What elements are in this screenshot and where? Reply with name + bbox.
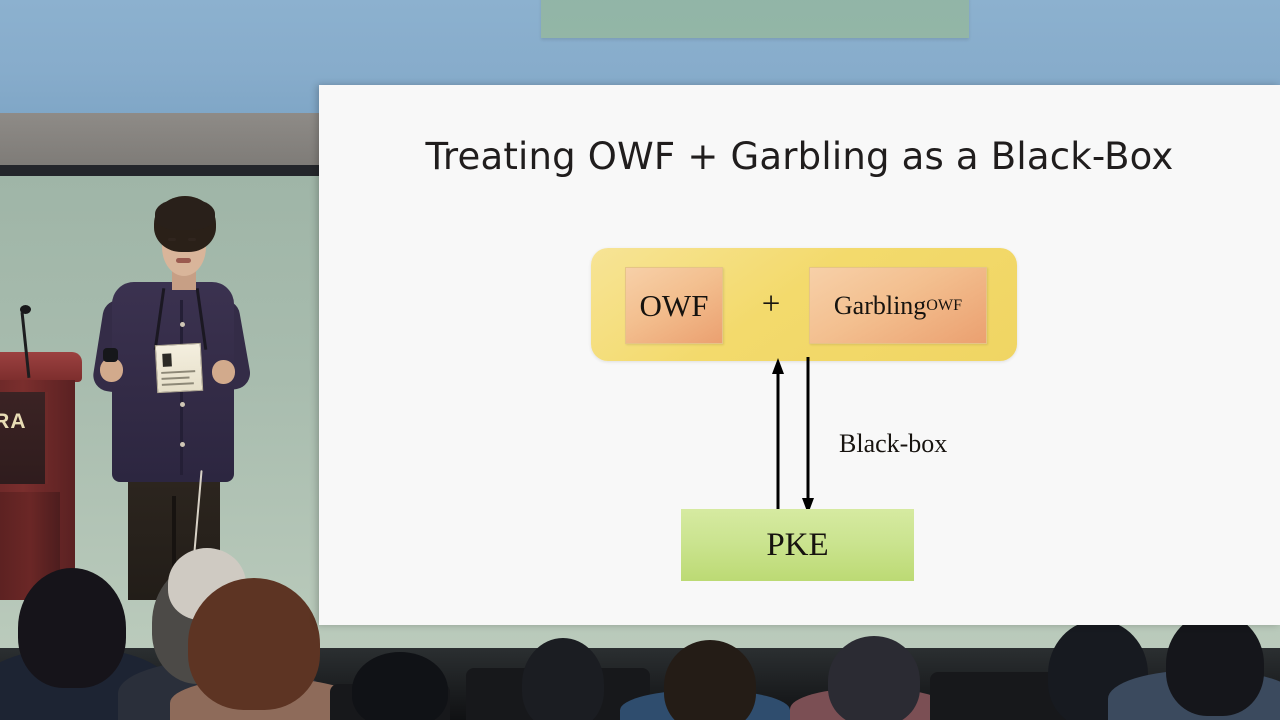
speaker-shirt-button bbox=[180, 402, 185, 407]
garbling-box: GarblingOWF bbox=[809, 267, 987, 344]
badge-text-line bbox=[161, 370, 195, 374]
speaker-shirt-button bbox=[180, 442, 185, 447]
speaker-right-hand bbox=[212, 360, 235, 384]
speaker-mouth bbox=[176, 258, 191, 263]
pke-box: PKE bbox=[681, 509, 914, 581]
speaker-eye-right bbox=[188, 238, 196, 241]
podium-front-panel bbox=[0, 392, 48, 484]
badge-text-line bbox=[162, 382, 194, 386]
speaker-hair-fringe bbox=[155, 198, 215, 230]
secondary-projection-screen bbox=[541, 0, 969, 38]
audience-head bbox=[18, 568, 126, 688]
black-box-arrows bbox=[759, 357, 819, 515]
black-box-label: Black-box bbox=[839, 429, 947, 459]
audience-head bbox=[828, 636, 920, 720]
presentation-clicker-icon bbox=[103, 348, 118, 362]
audience-head bbox=[1166, 612, 1264, 716]
owf-label: OWF bbox=[640, 288, 709, 324]
garbling-label: Garbling bbox=[834, 291, 926, 321]
podium-top bbox=[0, 352, 82, 382]
speaker-shirt-button bbox=[180, 322, 185, 327]
microphone-head-icon bbox=[20, 305, 31, 314]
primitive-group-container: OWF + GarblingOWF bbox=[591, 248, 1017, 361]
badge-text-line bbox=[161, 376, 189, 379]
pke-label: PKE bbox=[766, 527, 828, 564]
audience-head bbox=[352, 652, 448, 720]
audience-head-curly bbox=[188, 578, 320, 710]
podium-sign-text: ARA bbox=[0, 410, 27, 434]
screenshot-root: ARA bbox=[0, 0, 1280, 720]
speaker-eye-left bbox=[168, 238, 176, 241]
conference-name-badge bbox=[155, 343, 203, 393]
owf-box: OWF bbox=[625, 267, 723, 344]
audience-head bbox=[522, 638, 604, 720]
badge-logo-block bbox=[162, 353, 172, 366]
slide-title: Treating OWF + Garbling as a Black-Box bbox=[319, 135, 1280, 178]
plus-operator: + bbox=[751, 286, 791, 323]
presentation-slide: Treating OWF + Garbling as a Black-Box O… bbox=[319, 85, 1280, 625]
garbling-superscript: OWF bbox=[926, 297, 962, 315]
